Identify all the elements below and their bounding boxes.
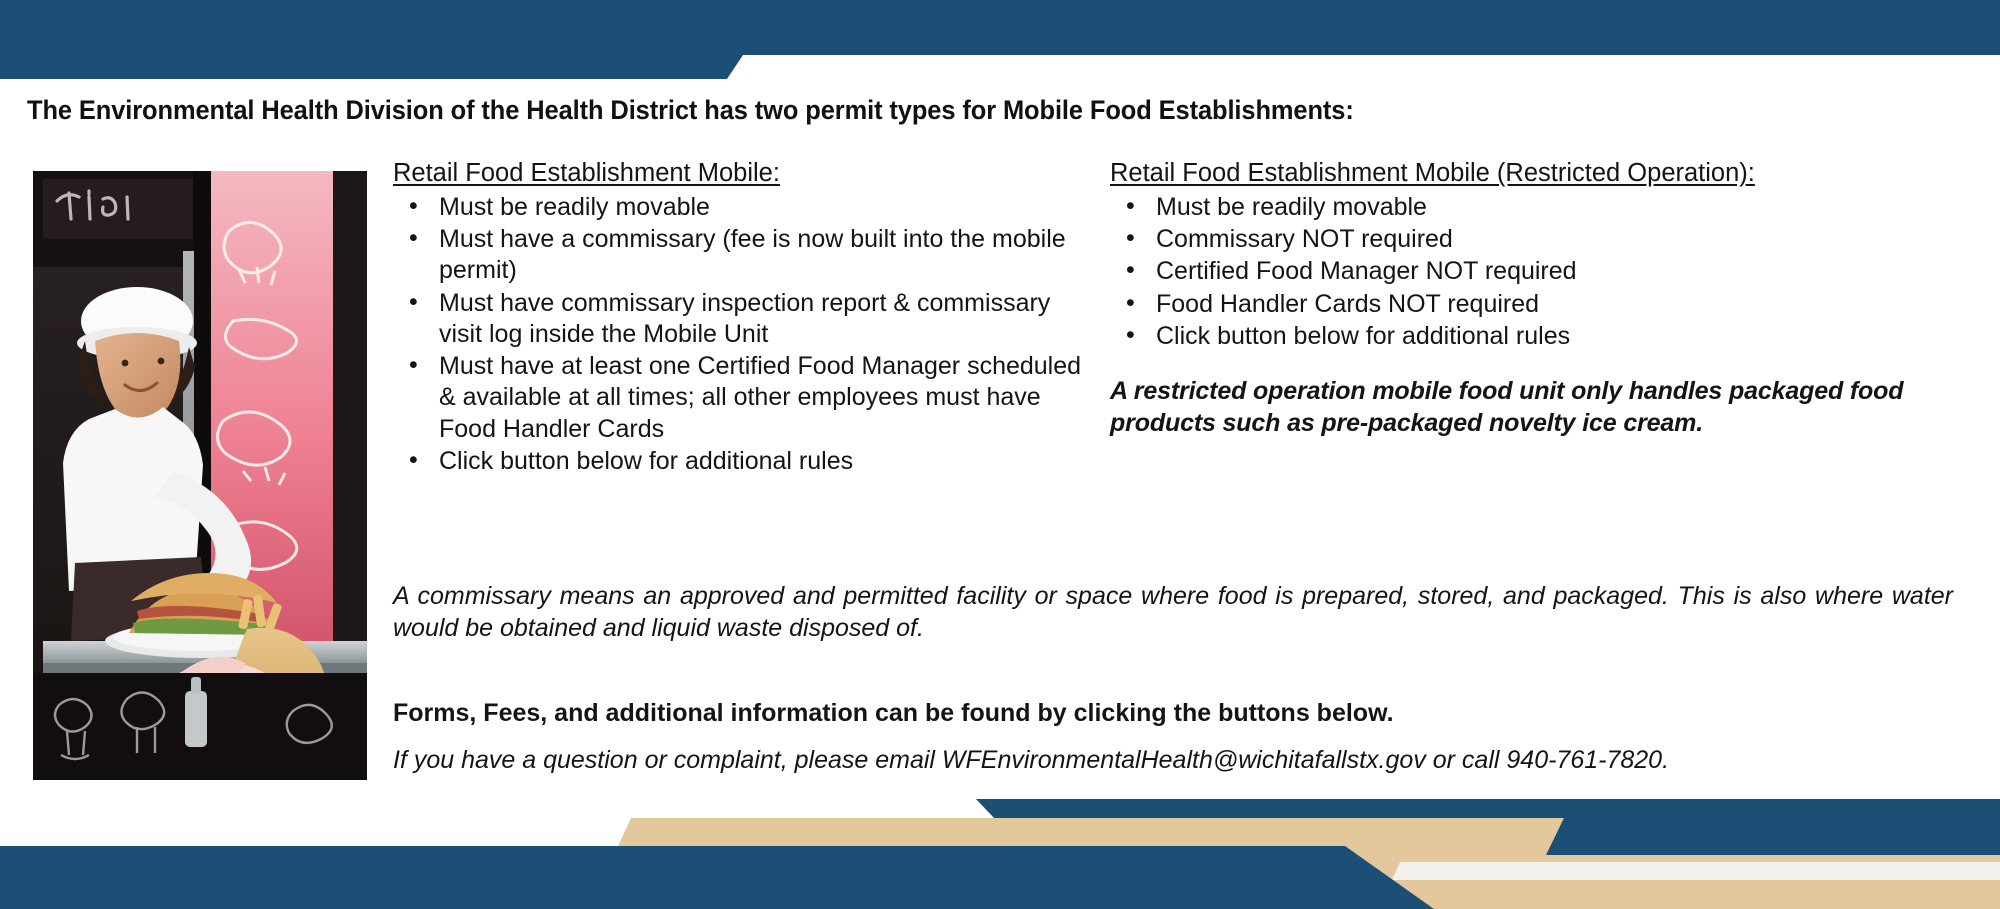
list-item: Must be readily movable (439, 192, 1083, 223)
column-retail-food-establishment-mobile-restricted: Retail Food Establishment Mobile (Restri… (1110, 158, 1980, 440)
list-item: Must have commissary inspection report &… (439, 288, 1083, 351)
commissary-definition-paragraph: A commissary means an approved and permi… (393, 580, 1953, 644)
footer-cream-stripe (1383, 866, 2000, 880)
rules-list-right: Must be readily movable Commissary NOT r… (1110, 192, 1980, 352)
list-item: Must have a commissary (fee is now built… (439, 224, 1083, 287)
contact-email-paragraph: If you have a question or complaint, ple… (393, 744, 1963, 776)
page-root: The Environmental Health Division of the… (0, 0, 2000, 909)
list-item: Must be readily movable (1156, 192, 1980, 223)
food-truck-photo (33, 171, 367, 780)
column-heading-left: Retail Food Establishment Mobile: (393, 158, 1083, 190)
list-item: Must have at least one Certified Food Ma… (439, 351, 1083, 445)
footer-navy-band (0, 845, 1440, 909)
footer-tan-lower (1548, 876, 2000, 909)
footer-tan-upper (604, 826, 2000, 907)
footer-navy-accent (975, 800, 2000, 860)
list-item: Commissary NOT required (1156, 224, 1980, 255)
forms-fees-paragraph: Forms, Fees, and additional information … (393, 697, 1953, 729)
column-retail-food-establishment-mobile: Retail Food Establishment Mobile: Must b… (393, 158, 1083, 478)
column-heading-right: Retail Food Establishment Mobile (Restri… (1110, 158, 1980, 190)
list-item: Certified Food Manager NOT required (1156, 256, 1980, 287)
list-item: Click button below for additional rules (1156, 321, 1980, 352)
list-item: Click button below for additional rules (439, 446, 1083, 477)
rules-list-left: Must be readily movable Must have a comm… (393, 192, 1083, 477)
restricted-operation-note: A restricted operation mobile food unit … (1110, 376, 1980, 440)
header-band (0, 0, 2000, 79)
page-title: The Environmental Health Division of the… (27, 95, 1354, 126)
footer-tan-bottom (600, 880, 2000, 909)
list-item: Food Handler Cards NOT required (1156, 289, 1980, 320)
